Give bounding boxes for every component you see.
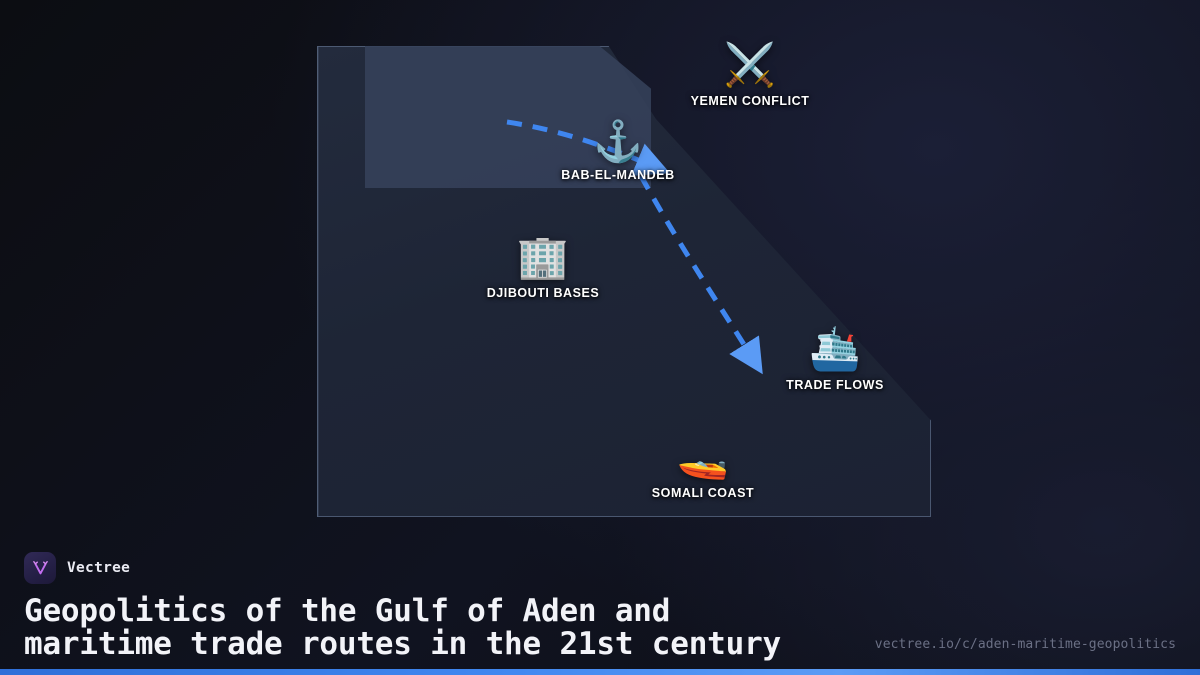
office-building-icon: 🏢 [517, 236, 569, 278]
map-marker-label: DJIBOUTI BASES [487, 286, 600, 300]
map-marker-somali-coast[interactable]: 🚤 SOMALI COAST [652, 436, 754, 500]
crossed-swords-icon: ⚔️ [724, 44, 776, 86]
page-title: Geopolitics of the Gulf of Aden and mari… [24, 595, 814, 661]
footer-url: vectree.io/c/aden-maritime-geopolitics [875, 637, 1176, 652]
vectree-v-logo-icon [24, 552, 56, 584]
speedboat-icon: 🚤 [677, 436, 729, 478]
brand-row[interactable]: Vectree [24, 552, 1176, 584]
anchor-icon: ⚓ [593, 122, 643, 162]
brand-name: Vectree [67, 560, 130, 576]
footer: Vectree Geopolitics of the Gulf of Aden … [0, 552, 1200, 675]
map-canvas [317, 46, 931, 517]
accent-bar [0, 669, 1200, 675]
passenger-ship-icon: 🛳️ [809, 328, 861, 370]
map-marker-label: TRADE FLOWS [786, 378, 884, 392]
map-marker-yemen-conflict[interactable]: ⚔️ YEMEN CONFLICT [691, 44, 810, 108]
map-marker-trade-flows[interactable]: 🛳️ TRADE FLOWS [786, 328, 884, 392]
map-marker-label: SOMALI COAST [652, 486, 754, 500]
map-marker-label: YEMEN CONFLICT [691, 94, 810, 108]
map-marker-bab-el-mandeb[interactable]: ⚓ BAB-EL-MANDEB [561, 122, 674, 182]
map-marker-djibouti-bases[interactable]: 🏢 DJIBOUTI BASES [487, 236, 600, 300]
map-marker-label: BAB-EL-MANDEB [561, 168, 674, 182]
